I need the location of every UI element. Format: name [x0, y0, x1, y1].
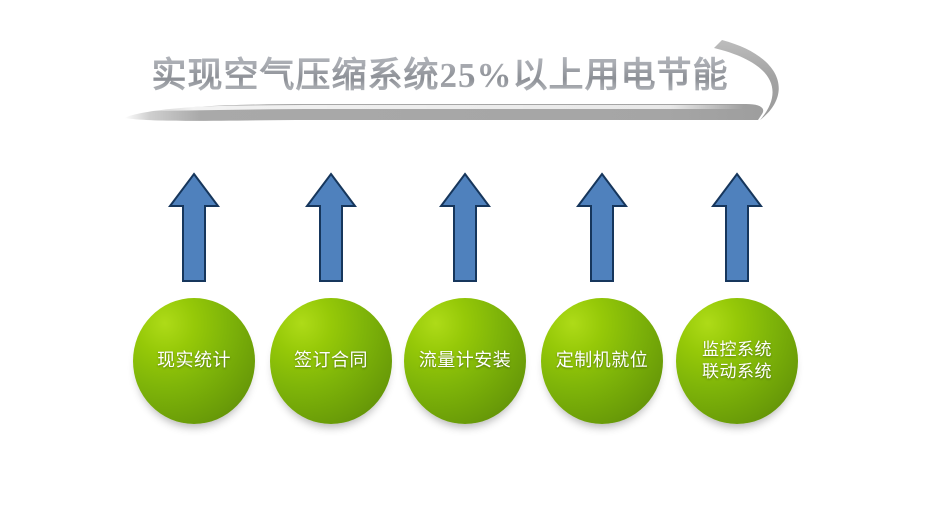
- process-step-5[interactable]: 监控系统 联动系统: [669, 150, 805, 440]
- up-arrow-icon: [305, 170, 357, 284]
- slide-canvas: 实现空气压缩系统25%以上用电节能 现实统计 签订合同: [0, 0, 945, 529]
- process-bubble-2[interactable]: 签订合同: [270, 298, 392, 424]
- title-block: 实现空气压缩系统25%以上用电节能: [0, 0, 945, 150]
- page-title: 实现空气压缩系统25%以上用电节能: [140, 48, 740, 104]
- process-bubble-5[interactable]: 监控系统 联动系统: [676, 298, 798, 424]
- process-bubble-label: 监控系统 联动系统: [698, 339, 776, 383]
- process-bubble-label: 现实统计: [153, 349, 235, 372]
- process-step-2[interactable]: 签订合同: [263, 150, 399, 440]
- up-arrow-icon: [711, 170, 763, 284]
- process-bubble-label: 流量计安装: [415, 349, 516, 372]
- process-step-3[interactable]: 流量计安装: [397, 150, 533, 440]
- up-arrow-icon: [576, 170, 628, 284]
- process-bubble-label: 定制机就位: [552, 349, 653, 372]
- process-bubble-1[interactable]: 现实统计: [133, 298, 255, 424]
- process-diagram: 现实统计 签订合同 流量计安装: [0, 150, 945, 450]
- up-arrow-icon: [168, 170, 220, 284]
- process-bubble-3[interactable]: 流量计安装: [404, 298, 526, 424]
- process-step-4[interactable]: 定制机就位: [534, 150, 670, 440]
- process-bubble-label: 签订合同: [290, 349, 372, 372]
- up-arrow-icon: [439, 170, 491, 284]
- process-bubble-4[interactable]: 定制机就位: [541, 298, 663, 424]
- process-step-1[interactable]: 现实统计: [126, 150, 262, 440]
